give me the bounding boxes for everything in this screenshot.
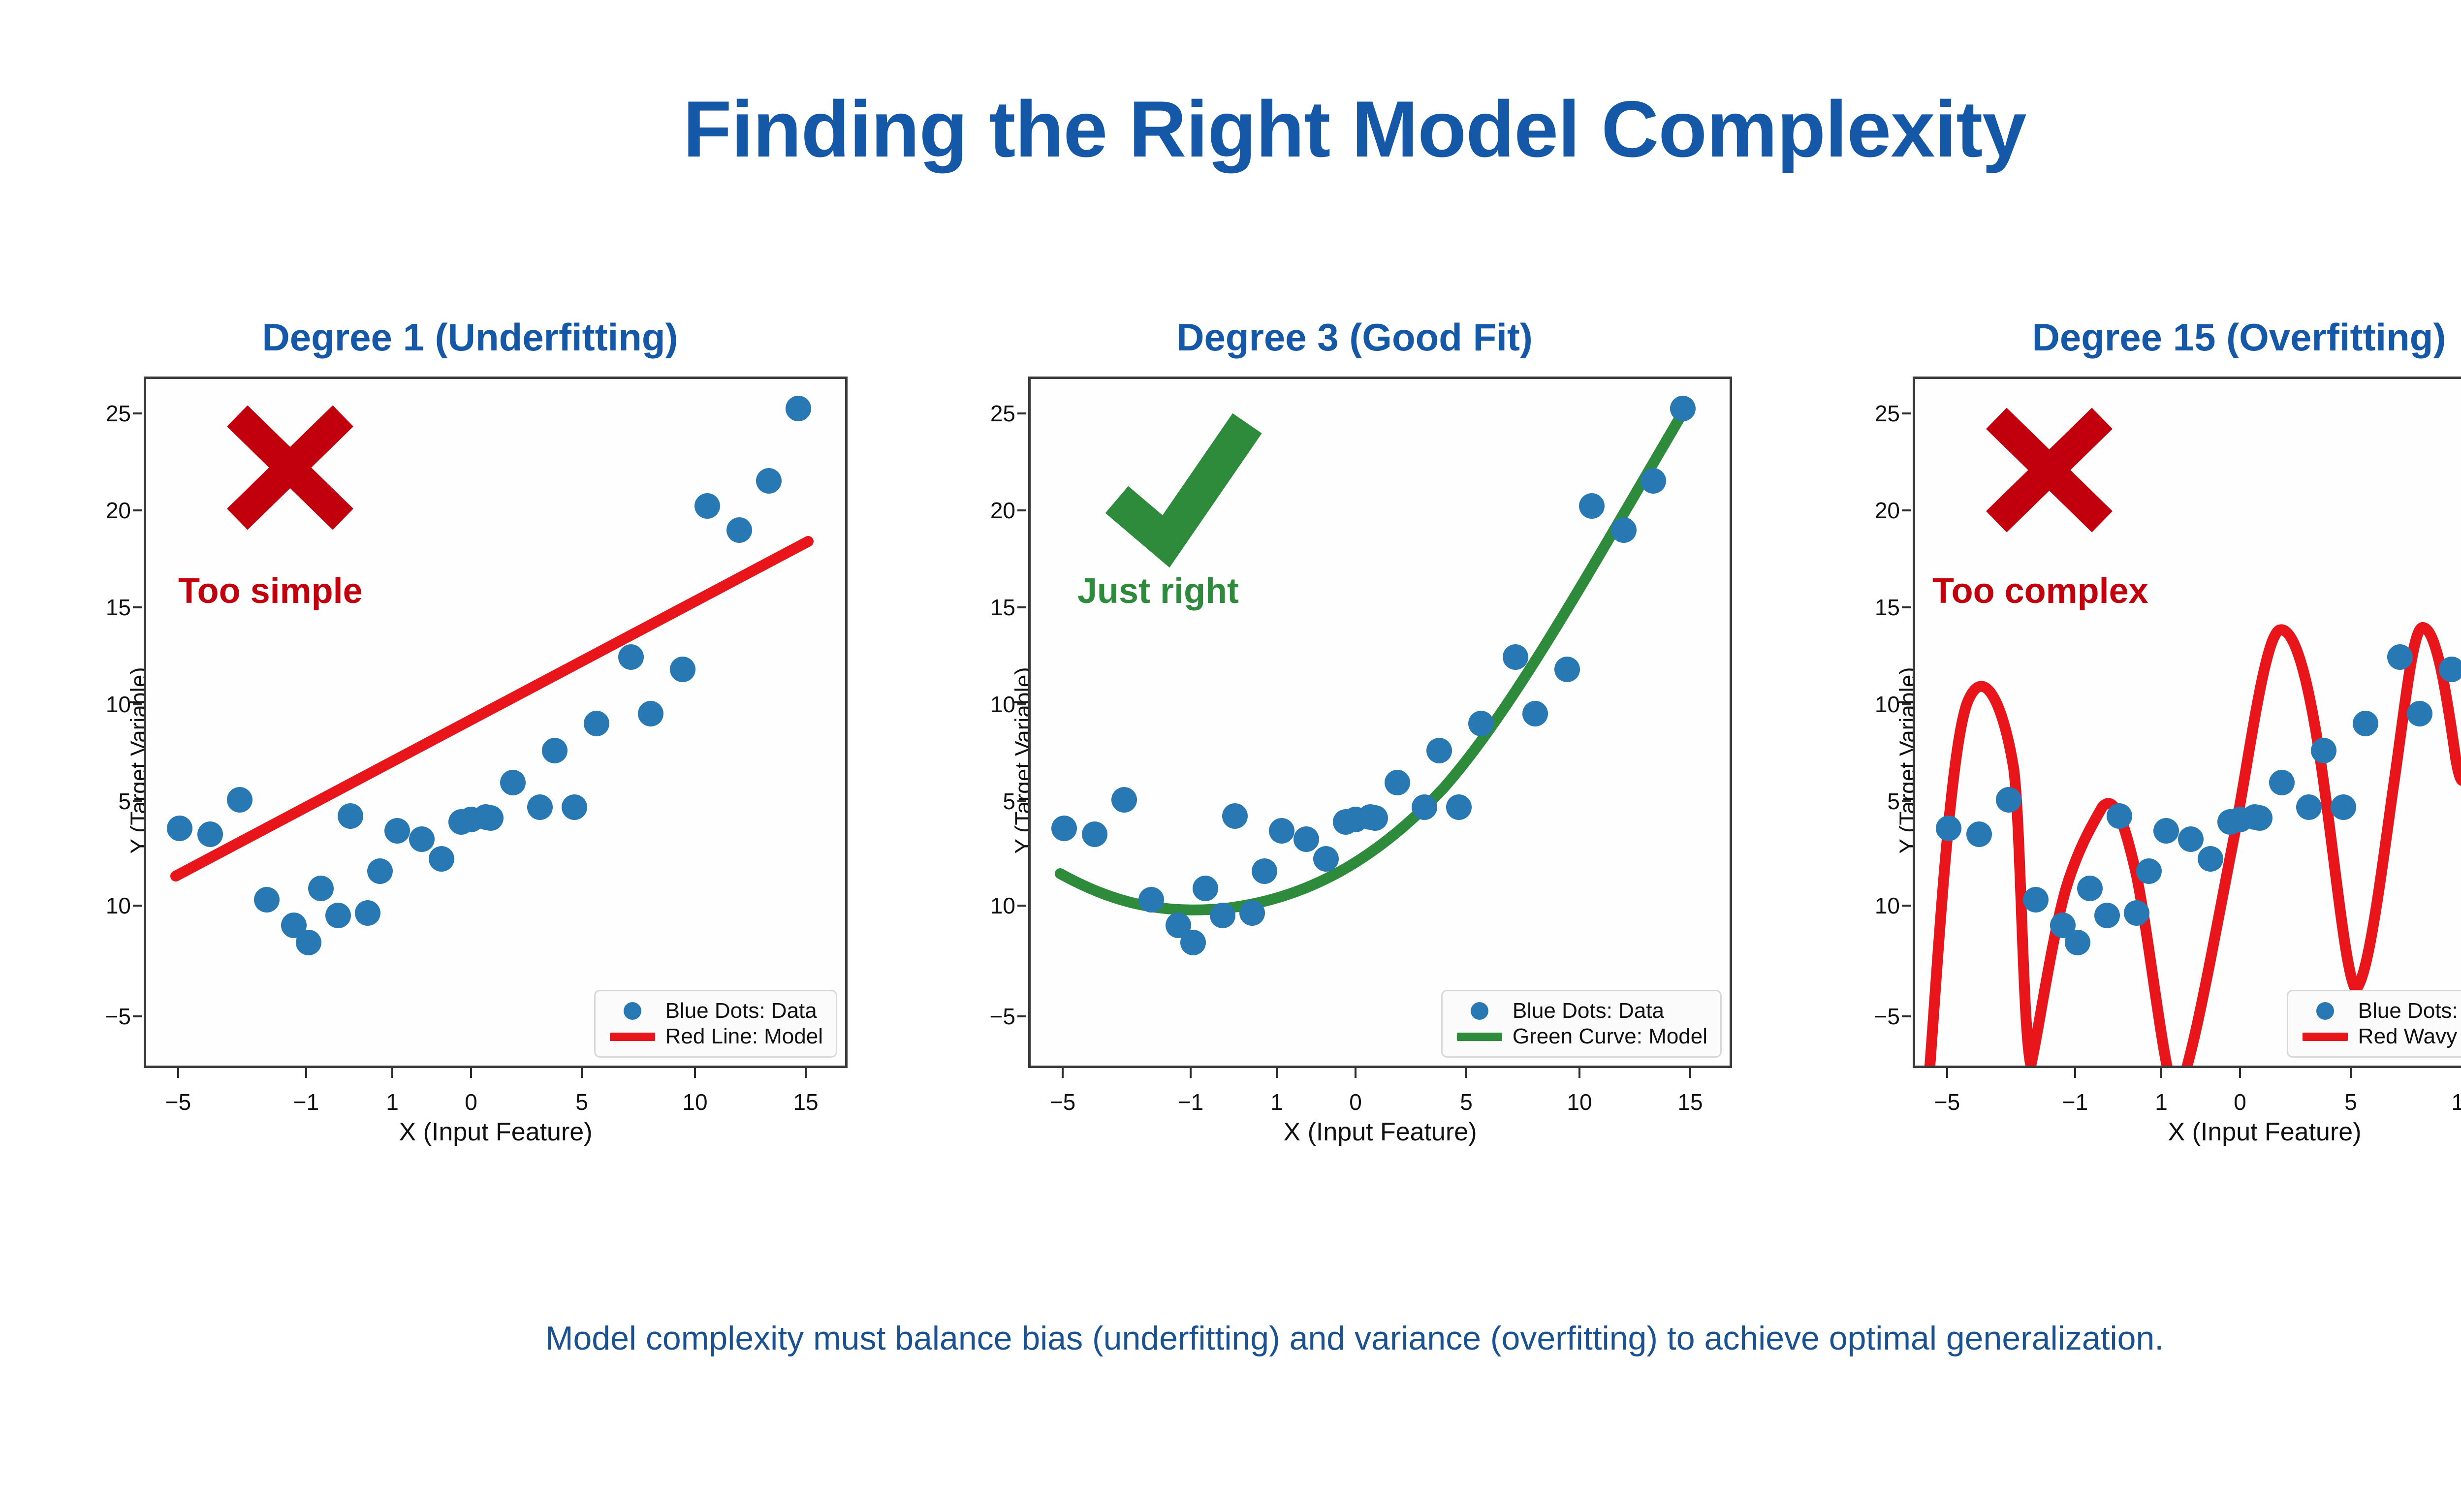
verdict-label-degree-1: Too simple [178, 571, 363, 611]
panel-title-degree-1: Degree 1 (Underfitting) [54, 315, 886, 360]
legend-dot-icon [605, 1002, 660, 1020]
x-tick-label: 0 [465, 1089, 477, 1115]
legend-item: Green Curve: Model [1452, 1024, 1707, 1049]
y-tick-label: 10 [1875, 691, 1900, 718]
legend-label: Blue Dots: Data [1507, 999, 1664, 1023]
model-curve-green [1060, 409, 1685, 910]
y-tick-label: 5 [1003, 788, 1015, 815]
legend-degree-1: Blue Dots: Data Red Line: Model [594, 990, 837, 1058]
y-tick-label: 25 [106, 400, 131, 427]
x-tick-label: −5 [1934, 1089, 1960, 1115]
y-tick-label: 20 [990, 497, 1015, 524]
x-axis-ticks: −5 −1 1 0 5 10 15 [1028, 1068, 1732, 1122]
x-tick-label: −5 [165, 1089, 191, 1115]
y-tick-label: 25 [1875, 400, 1900, 427]
panel-degree-15: Degree 15 (Overfitting) Y (Target Variab… [1823, 315, 2461, 1280]
legend-dot-icon [1452, 1002, 1507, 1020]
y-tick-label: 25 [990, 400, 1015, 427]
legend-label: Blue Dots: Data [2352, 999, 2461, 1023]
x-tick-label: 1 [2155, 1089, 2168, 1115]
legend-line-icon [605, 1033, 660, 1041]
x-tick-label: 5 [575, 1089, 588, 1115]
legend-item: Blue Dots: Data [605, 998, 823, 1024]
y-axis-ticks: 25 20 15 10 5 10 −5 [1852, 377, 1911, 1068]
y-tick-label: 10 [990, 892, 1015, 919]
x-tick-label: 0 [2234, 1089, 2246, 1115]
panel-title-degree-15: Degree 15 (Overfitting) [1823, 315, 2461, 360]
panel-degree-3: Degree 3 (Good Fit) Y (Target Variable) … [939, 315, 1770, 1280]
y-axis-ticks: 25 20 15 10 5 10 −5 [967, 377, 1026, 1068]
y-tick-label: 10 [990, 691, 1015, 718]
plot-area-degree-15: Too complex Blue Dots: Data Red Wavy Cur… [1913, 377, 2461, 1068]
x-tick-label: −5 [1050, 1089, 1075, 1115]
x-axis-label: X (Input Feature) [1913, 1117, 2461, 1147]
panel-row: Degree 1 (Underfitting) Y (Target Variab… [0, 315, 2461, 1280]
verdict-label-degree-15: Too complex [1932, 571, 2148, 611]
legend-degree-3: Blue Dots: Data Green Curve: Model [1441, 990, 1722, 1058]
x-tick-label: 10 [1567, 1089, 1592, 1115]
legend-line-icon [1452, 1033, 1507, 1041]
plot-degree-15: Y (Target Variable) 25 20 15 10 5 10 −5 [1823, 377, 2461, 1144]
legend-item: Red Wavy Curve: Model [2298, 1024, 2461, 1049]
x-tick-label: 10 [682, 1089, 707, 1115]
y-tick-label: 20 [106, 497, 131, 524]
figure-caption: Model complexity must balance bias (unde… [0, 1319, 2461, 1357]
x-tick-label: 15 [793, 1089, 818, 1115]
y-tick-label: 20 [1875, 497, 1900, 524]
legend-label: Red Wavy Curve: Model [2352, 1024, 2461, 1049]
y-tick-label: 15 [990, 594, 1015, 621]
legend-line-icon [2298, 1033, 2352, 1041]
y-tick-label: −5 [1874, 1003, 1900, 1030]
legend-item: Blue Dots: Data [2298, 998, 2461, 1024]
verdict-label-degree-3: Just right [1077, 571, 1239, 611]
y-axis-ticks: 25 20 15 10 5 10 −5 [83, 377, 142, 1068]
y-tick-label: 5 [1887, 788, 1900, 815]
plot-svg-degree-15 [1915, 379, 2461, 1066]
y-tick-label: 15 [106, 594, 131, 621]
x-tick-label: 1 [386, 1089, 399, 1115]
panel-title-degree-3: Degree 3 (Good Fit) [939, 315, 1770, 360]
y-tick-label: 5 [118, 788, 131, 815]
x-tick-label: −1 [1178, 1089, 1203, 1115]
cross-icon [1996, 418, 2102, 522]
legend-dot-icon [2298, 1002, 2352, 1020]
x-axis-ticks: −5 −1 1 0 5 10 15 [1913, 1068, 2461, 1122]
x-tick-label: 15 [1677, 1089, 1703, 1115]
plot-area-degree-3: Just right Blue Dots: Data Green Curve: … [1028, 377, 1732, 1068]
x-tick-label: −1 [293, 1089, 319, 1115]
legend-item: Red Line: Model [605, 1024, 823, 1049]
page-title: Finding the Right Model Complexity [0, 84, 2461, 175]
plot-degree-3: Y (Target Variable) 25 20 15 10 5 10 −5 [939, 377, 1770, 1144]
legend-item: Blue Dots: Data [1452, 998, 1707, 1024]
x-tick-label: 5 [1460, 1089, 1473, 1115]
legend-label: Green Curve: Model [1507, 1024, 1707, 1049]
legend-label: Red Line: Model [660, 1024, 823, 1049]
y-tick-label: 10 [1875, 892, 1900, 919]
x-tick-label: −1 [2062, 1089, 2088, 1115]
y-tick-label: 15 [1875, 594, 1900, 621]
panel-degree-1: Degree 1 (Underfitting) Y (Target Variab… [54, 315, 886, 1280]
y-tick-label: 10 [106, 892, 131, 919]
legend-degree-15: Blue Dots: Data Red Wavy Curve: Model [2287, 990, 2461, 1058]
legend-label: Blue Dots: Data [660, 999, 817, 1023]
x-axis-label: X (Input Feature) [1028, 1117, 1732, 1147]
plot-svg-degree-3 [1031, 379, 1730, 1066]
x-tick-label: 5 [2344, 1089, 2357, 1115]
x-tick-label: 10 [2451, 1089, 2461, 1115]
x-axis-ticks: −5 −1 1 0 5 10 15 [144, 1068, 848, 1122]
y-tick-label: −5 [105, 1003, 131, 1030]
scatter-points [1051, 396, 1696, 955]
plot-area-degree-1: Too simple Blue Dots: Data Red Line: Mod… [144, 377, 848, 1068]
x-tick-label: 1 [1270, 1089, 1283, 1115]
x-tick-label: 0 [1349, 1089, 1362, 1115]
x-axis-label: X (Input Feature) [144, 1117, 848, 1147]
plot-svg-degree-1 [146, 379, 845, 1066]
cross-icon [237, 416, 343, 519]
plot-degree-1: Y (Target Variable) 25 20 15 10 5 10 −5 [54, 377, 886, 1144]
check-icon [1117, 423, 1247, 541]
y-tick-label: −5 [990, 1003, 1015, 1030]
y-tick-label: 10 [106, 691, 131, 718]
